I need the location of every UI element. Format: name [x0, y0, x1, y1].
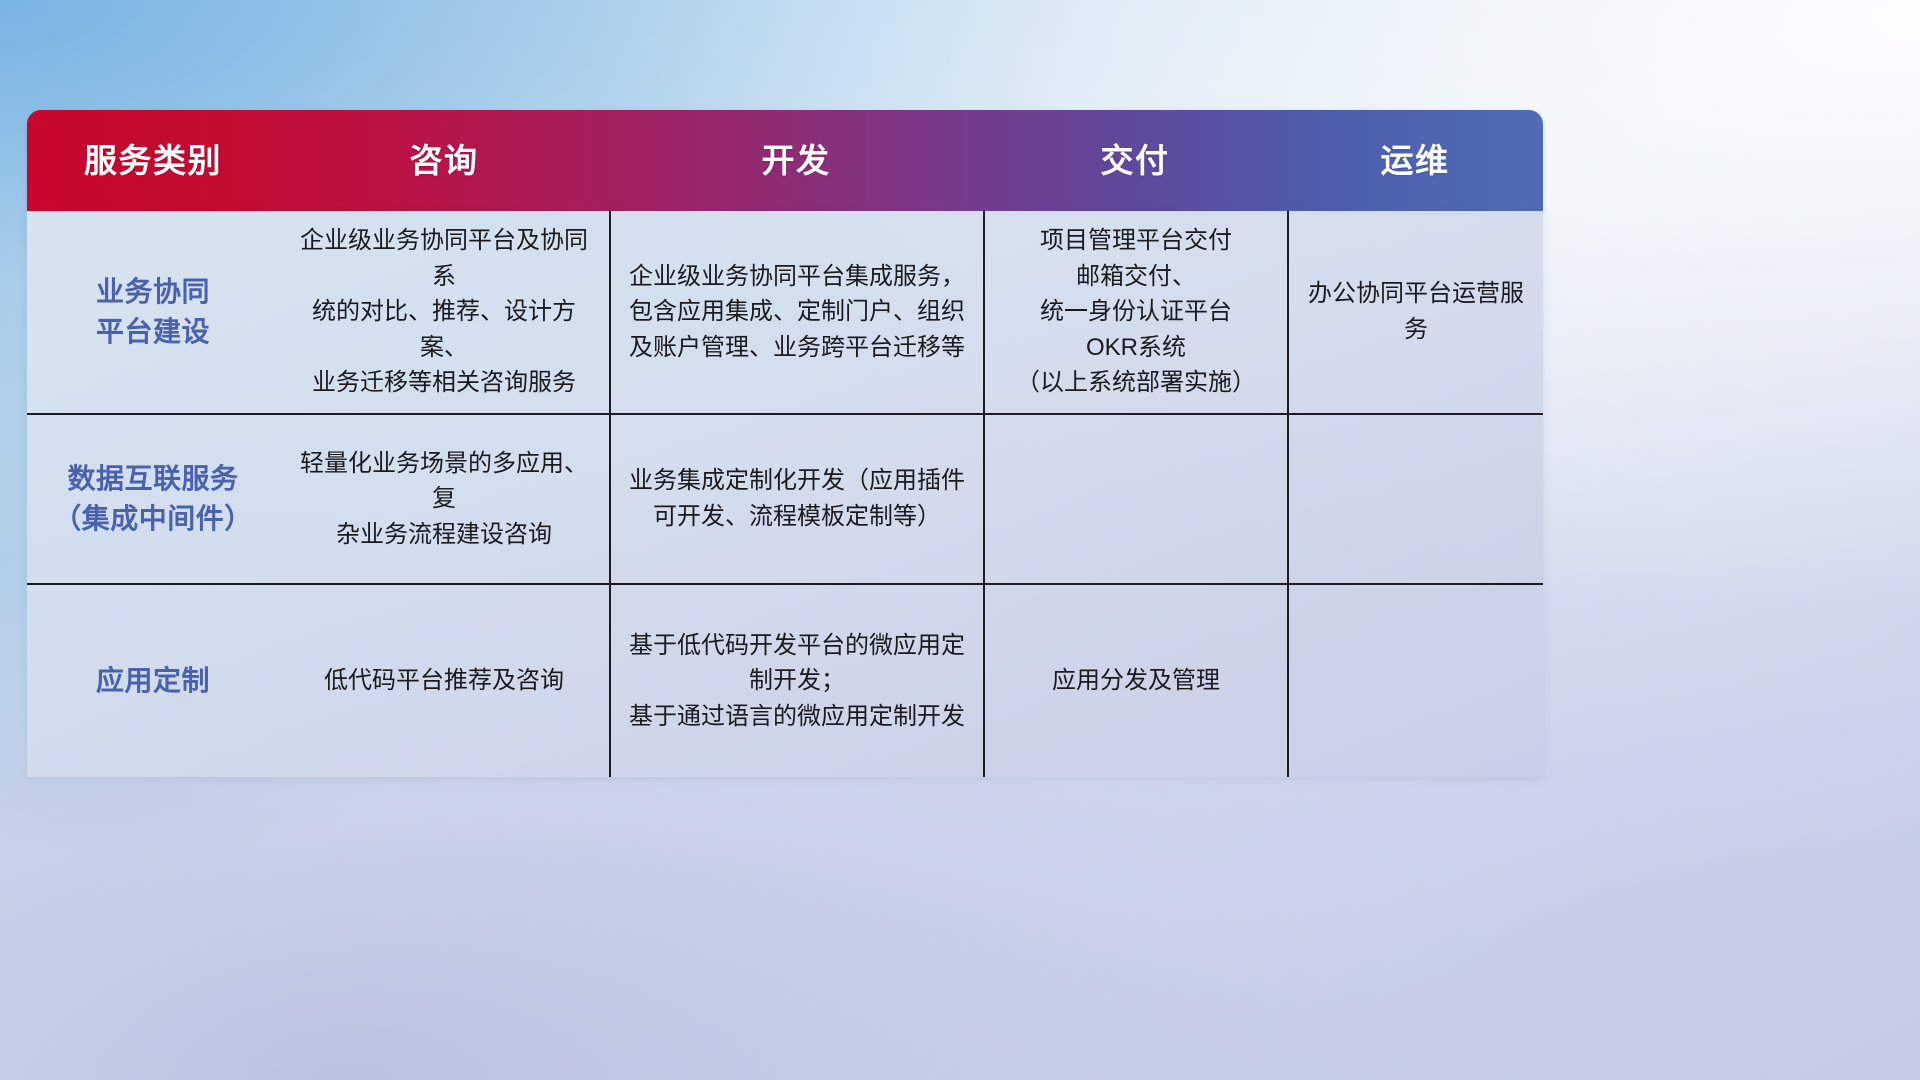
cell-delivery: 项目管理平台交付 邮箱交付、 统一身份认证平台 OKR系统 （以上系统部署实施）	[983, 211, 1287, 413]
cell-operations	[1287, 585, 1543, 777]
column-header-development: 开发	[609, 110, 983, 211]
cell-consulting: 企业级业务协同平台及协同系 统的对比、推荐、设计方案、 业务迁移等相关咨询服务	[279, 211, 609, 413]
column-header-operations: 运维	[1287, 110, 1543, 211]
table-header-row: 服务类别 咨询 开发 交付 运维	[27, 110, 1543, 211]
table-row: 数据互联服务 （集成中间件） 轻量化业务场景的多应用、复 杂业务流程建设咨询 业…	[27, 413, 1543, 583]
column-header-delivery: 交付	[983, 110, 1287, 211]
cell-consulting: 轻量化业务场景的多应用、复 杂业务流程建设咨询	[279, 415, 609, 583]
cell-delivery: 应用分发及管理	[983, 585, 1287, 777]
cell-development: 企业级业务协同平台集成服务， 包含应用集成、定制门户、组织 及账户管理、业务跨平…	[609, 211, 983, 413]
column-header-category: 服务类别	[27, 110, 279, 211]
column-header-consulting: 咨询	[279, 110, 609, 211]
table-body: 业务协同 平台建设 企业级业务协同平台及协同系 统的对比、推荐、设计方案、 业务…	[27, 211, 1543, 777]
cell-operations: 办公协同平台运营服务	[1287, 211, 1543, 413]
cell-development: 业务集成定制化开发（应用插件 可开发、流程模板定制等）	[609, 415, 983, 583]
cell-operations	[1287, 415, 1543, 583]
table-row: 业务协同 平台建设 企业级业务协同平台及协同系 统的对比、推荐、设计方案、 业务…	[27, 211, 1543, 413]
service-matrix-table: 服务类别 咨询 开发 交付 运维 业务协同 平台建设 企业级业务协同平台及协同系…	[27, 110, 1543, 777]
cell-delivery	[983, 415, 1287, 583]
row-label-app-customization: 应用定制	[27, 585, 279, 777]
slide-canvas: 服务类别 咨询 开发 交付 运维 业务协同 平台建设 企业级业务协同平台及协同系…	[0, 0, 1920, 1080]
row-label-data-interconnect: 数据互联服务 （集成中间件）	[27, 415, 279, 583]
cell-consulting: 低代码平台推荐及咨询	[279, 585, 609, 777]
cell-development: 基于低代码开发平台的微应用定 制开发； 基于通过语言的微应用定制开发	[609, 585, 983, 777]
row-label-business-collaboration: 业务协同 平台建设	[27, 211, 279, 413]
table-row: 应用定制 低代码平台推荐及咨询 基于低代码开发平台的微应用定 制开发； 基于通过…	[27, 583, 1543, 777]
